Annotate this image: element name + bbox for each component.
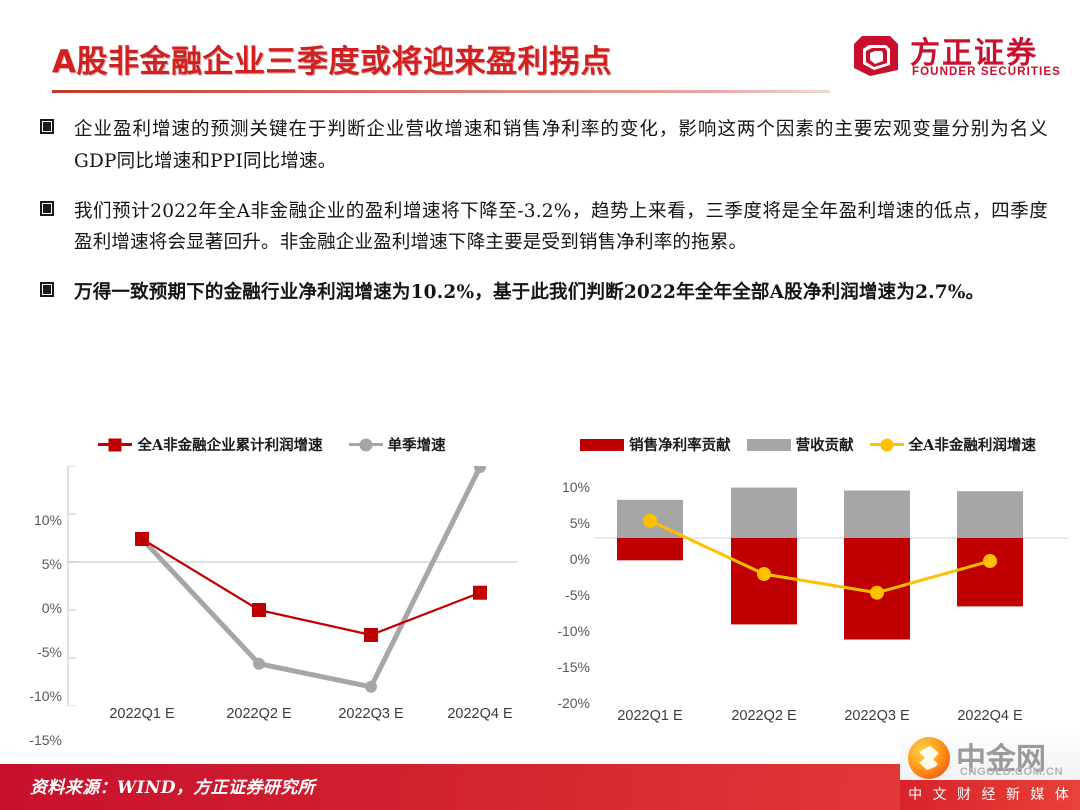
legend-line-swatch	[98, 443, 132, 446]
watermark-tagline: 中 文 财 经 新 媒 体	[908, 784, 1072, 804]
legend-circle-marker-icon	[359, 438, 372, 451]
legend-label: 单季增速	[388, 434, 446, 455]
cngold-logo-icon	[908, 737, 950, 779]
bullet-item: 我们预计2022年全A非金融企业的盈利增速将下降至-3.2%，趋势上来看，三季度…	[38, 196, 1048, 260]
bullet-list: 企业盈利增速的预测关键在于判断企业营收增速和销售净利率的变化，影响这两个因素的主…	[38, 114, 1048, 327]
y-tick-label: 10%	[34, 512, 62, 528]
legend-label: 全A非金融企业累计利润增速	[137, 434, 322, 455]
chart-legend: 全A非金融企业累计利润增速 单季增速	[8, 434, 536, 455]
chart-svg-left	[66, 466, 528, 706]
legend-bar-swatch	[580, 439, 624, 451]
title-divider	[52, 90, 830, 93]
x-tick-label: 2022Q1 E	[109, 706, 174, 722]
chart-profit-contribution-bars: 销售净利率贡献 营收贡献 全A非金融利润增速 10% 5% 0% -5% -10…	[540, 430, 1076, 730]
legend-item-net-margin-contribution: 销售净利率贡献	[580, 434, 731, 455]
bullet-item: 万得一致预期下的金融行业净利润增速为10.2%，基于此我们判断2022年全年全部…	[38, 277, 1048, 309]
y-tick-label: 5%	[570, 515, 590, 531]
chart-svg-right	[594, 466, 1068, 716]
y-tick-label: -5%	[565, 587, 590, 603]
legend-bar-swatch	[747, 439, 791, 451]
legend-item-profit-growth-line: 全A非金融利润增速	[870, 434, 1036, 455]
legend-item-cumulative-profit-growth: 全A非金融企业累计利润增速	[98, 434, 322, 455]
bullet-item: 企业盈利增速的预测关键在于判断企业营收增速和销售净利率的变化，影响这两个因素的主…	[38, 114, 1048, 178]
y-axis-labels: 10% 5% 0% -5% -10% -15% -20%	[540, 466, 590, 730]
x-tick-label: 2022Q1 E	[617, 708, 682, 724]
page-title: A股非金融企业三季度或将迎来盈利拐点	[52, 36, 612, 81]
legend-square-marker-icon	[109, 438, 122, 451]
legend-circle-marker-icon	[880, 438, 893, 451]
y-tick-label: -5%	[37, 644, 62, 660]
logo-text-en: FOUNDER SECURITIES	[912, 66, 1061, 78]
founder-securities-logo: 方正证券 FOUNDER SECURITIES	[852, 28, 1052, 86]
chart-profit-growth-lines: 全A非金融企业累计利润增速 单季增速 10% 5% 0% -5% -10% -1…	[8, 430, 536, 730]
x-tick-label: 2022Q4 E	[447, 706, 512, 722]
legend-line-swatch	[870, 443, 904, 446]
x-tick-label: 2022Q3 E	[844, 708, 909, 724]
legend-label: 销售净利率贡献	[629, 434, 731, 455]
legend-item-quarterly-growth: 单季增速	[349, 434, 446, 455]
chart-plot-area: 10% 5% 0% -5% -10% -15% 2022Q1 E 2022Q2 …	[8, 466, 536, 730]
y-tick-label: -10%	[29, 688, 62, 704]
bullet-text: 万得一致预期下的金融行业净利润增速为10.2%，基于此我们判断2022年全年全部…	[74, 277, 1048, 309]
x-axis-labels: 2022Q1 E 2022Q2 E 2022Q3 E 2022Q4 E	[540, 708, 1076, 734]
y-axis-labels: 10% 5% 0% -5% -10% -15%	[8, 466, 62, 730]
y-tick-label: 0%	[570, 551, 590, 567]
slide-header: A股非金融企业三季度或将迎来盈利拐点 方正证券 FOUNDER SECURITI…	[0, 0, 1080, 104]
y-tick-label: 5%	[42, 556, 62, 572]
chart-legend: 销售净利率贡献 营收贡献 全A非金融利润增速	[540, 434, 1076, 455]
y-tick-label: 0%	[42, 600, 62, 616]
cngold-watermark: 中金网 CNGOLD.COM.CN 中 文 财 经 新 媒 体	[900, 734, 1080, 810]
bullet-square-icon	[40, 201, 54, 216]
chart-plot-area: 10% 5% 0% -5% -10% -15% -20% 2022Q1 E 20…	[540, 466, 1076, 730]
bullet-text: 我们预计2022年全A非金融企业的盈利增速将下降至-3.2%，趋势上来看，三季度…	[74, 196, 1048, 260]
legend-label: 营收贡献	[796, 434, 854, 455]
slide: A股非金融企业三季度或将迎来盈利拐点 方正证券 FOUNDER SECURITI…	[0, 0, 1080, 810]
y-tick-label: -15%	[557, 659, 590, 675]
y-tick-label: 10%	[562, 479, 590, 495]
x-tick-label: 2022Q2 E	[731, 708, 796, 724]
y-tick-label: -10%	[557, 623, 590, 639]
x-tick-label: 2022Q2 E	[226, 706, 291, 722]
x-axis-labels: 2022Q1 E 2022Q2 E 2022Q3 E 2022Q4 E	[8, 706, 536, 732]
bullet-text: 企业盈利增速的预测关键在于判断企业营收增速和销售净利率的变化，影响这两个因素的主…	[74, 114, 1048, 178]
founder-logo-mark	[852, 32, 900, 80]
x-tick-label: 2022Q3 E	[338, 706, 403, 722]
y-tick-label: -15%	[29, 732, 62, 748]
x-tick-label: 2022Q4 E	[957, 708, 1022, 724]
watermark-url: CNGOLD.COM.CN	[960, 766, 1063, 778]
legend-label: 全A非金融利润增速	[909, 434, 1036, 455]
source-text: 资料来源：WIND，方正证券研究所	[30, 773, 315, 798]
legend-item-revenue-contribution: 营收贡献	[747, 434, 854, 455]
bullet-square-icon	[40, 282, 54, 297]
legend-line-swatch	[349, 443, 383, 446]
bullet-square-icon	[40, 119, 54, 134]
